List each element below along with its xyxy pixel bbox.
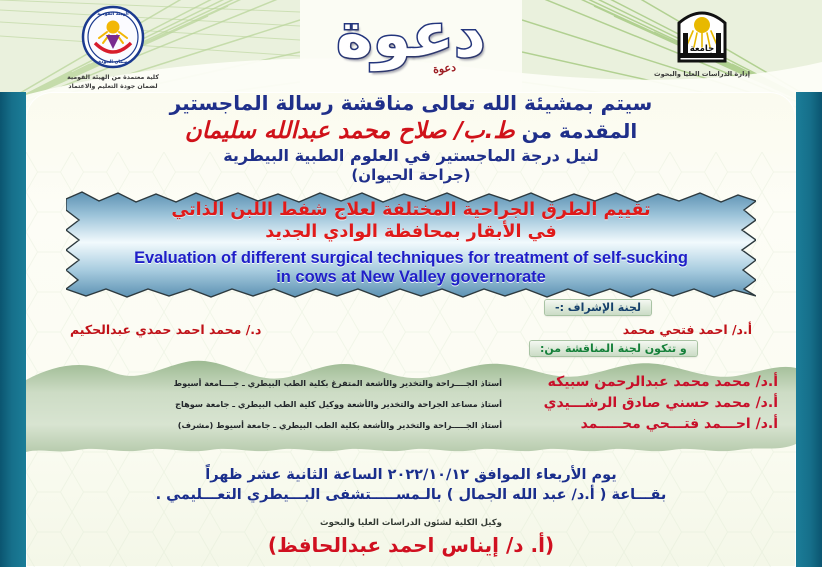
poster-footer: وكيل الكلية لشئون الدراسات العليا والبحو… [0, 518, 822, 557]
committee-row: أ.د/ محمد محمد عبدالرحمن سبيكه أستاذ الج… [44, 374, 778, 390]
intro-line-4: (جراحة الحيوان) [40, 167, 782, 185]
svg-text:جامعة: جامعة [690, 44, 715, 54]
intro-line-1: سيتم بمشيئة الله تعالى مناقشة رسالة الما… [40, 92, 782, 116]
committee-member-name: أ.د/ محمد محمد عبدالرحمن سبيكه [518, 374, 778, 390]
committee-row: أ.د/ محمد حسني صادق الرشـــيدي أستاذ مسا… [44, 395, 778, 411]
thesis-title-arabic-line-2: في الأبقار بمحافظة الوادي الجديد [66, 222, 756, 242]
date-and-venue: يوم الأربعاء الموافق ٢٠٢٢/١٠/١٢ الساعة ا… [60, 466, 762, 505]
committee-member-role: أستاذ الجــــراحة والتخدير والأشعة المتف… [44, 378, 502, 388]
defense-datetime: يوم الأربعاء الموافق ٢٠٢٢/١٠/١٢ الساعة ا… [60, 466, 762, 486]
thesis-title-banner: تقييم الطرق الجراحية المختلفة لعلاج شفط … [66, 190, 756, 298]
thesis-title-text: تقييم الطرق الجراحية المختلفة لعلاج شفط … [66, 200, 756, 287]
university-logo: جامعة إدارة الدراسات العليا والبحوث [642, 3, 762, 80]
poster-header: الهيئة القومية ضمان الجودة كلية معتمدة م… [0, 0, 822, 95]
intro-line-2: المقدمة من ط.ب/ صلاح محمد عبدالله سليمان [40, 118, 782, 145]
intro-prefix: المقدمة من [515, 119, 638, 143]
assiut-university-seal-icon: جامعة [671, 3, 733, 65]
university-department-caption: إدارة الدراسات العليا والبحوث [642, 70, 762, 80]
invitation-signature-mark: دعوة [432, 61, 456, 76]
invitation-poster: الهيئة القومية ضمان الجودة كلية معتمدة م… [0, 0, 822, 567]
committee-member-role: أستاذ مساعد الجراحة والتخدير والأشعة ووك… [44, 399, 502, 409]
invitation-word-text: دعوة [336, 2, 486, 67]
examination-committee-label: و تتكون لجنة المناقشة من: [530, 341, 697, 356]
intro-block: سيتم بمشيئة الله تعالى مناقشة رسالة الما… [40, 92, 782, 184]
supervisor-1: أ.د/ احمد فتحي محمد [623, 322, 752, 337]
right-accent-bar [796, 92, 822, 567]
committee-member-name: أ.د/ محمد حسني صادق الرشـــيدي [518, 395, 778, 411]
defense-venue: بقـــاعة ( أ.د/ عبد الله الجمال ) بالـمس… [60, 486, 762, 506]
accreditation-caption: كلية معتمدة من الهيئة القومية لضمان جودة… [63, 74, 163, 92]
thesis-title-arabic-line-1: تقييم الطرق الجراحية المختلفة لعلاج شفط … [66, 200, 756, 220]
thesis-title-english-line-2: in cows at New Valley governorate [66, 268, 756, 287]
committee-member-role: أستاذ الجـــــراحة والتخدير والأشعة بكلي… [44, 420, 502, 430]
accreditation-seal-icon: الهيئة القومية ضمان الجودة [81, 5, 145, 69]
faculty-accreditation-logo: الهيئة القومية ضمان الجودة كلية معتمدة م… [63, 5, 163, 92]
footer-signatory-name: (أ. د/ إيناس احمد عبدالحافظ) [0, 533, 822, 557]
svg-text:الهيئة القومية: الهيئة القومية [97, 12, 129, 17]
left-accent-bar [0, 92, 26, 567]
thesis-title-english-line-1: Evaluation of different surgical techniq… [66, 249, 756, 268]
supervision-members: أ.د/ احمد فتحي محمد د./ محمد احمد حمدي ع… [70, 322, 752, 337]
svg-text:ضمان الجودة: ضمان الجودة [98, 60, 128, 65]
committee-member-name: أ.د/ احـــمد فتـــحي محـــــمد [518, 416, 778, 432]
supervisor-2: د./ محمد احمد حمدي عبدالحكيم [70, 322, 261, 337]
candidate-name: ط.ب/ صلاح محمد عبدالله سليمان [185, 118, 515, 144]
examination-committee-members: أ.د/ محمد محمد عبدالرحمن سبيكه أستاذ الج… [44, 374, 778, 437]
committee-row: أ.د/ احـــمد فتـــحي محـــــمد أستاذ الج… [44, 416, 778, 432]
intro-line-3: لنيل درجة الماجستير في العلوم الطبية الب… [40, 147, 782, 166]
supervision-committee-label: لجنة الإشراف :- [545, 300, 651, 315]
footer-role-title: وكيل الكلية لشئون الدراسات العليا والبحو… [0, 518, 822, 528]
